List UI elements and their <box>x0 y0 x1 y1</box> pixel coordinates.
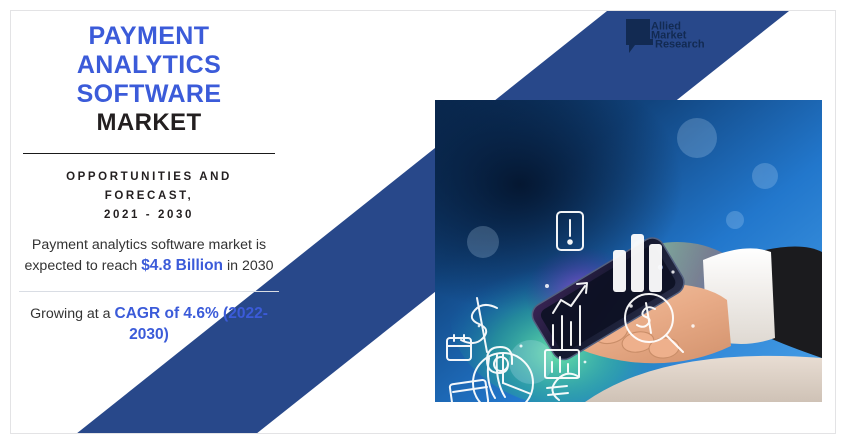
subhead-line-2: FORECAST, <box>18 187 280 206</box>
allied-market-research-logo[interactable]: Allied Market Research <box>624 17 706 59</box>
cagr-highlight: CAGR of 4.6% (2022-2030) <box>115 305 268 343</box>
hero-photo <box>435 100 822 402</box>
subhead: OPPORTUNITIES AND FORECAST, 2021 - 2030 <box>18 168 280 225</box>
logo-text-line-3: Research <box>655 39 705 51</box>
subhead-line-1: OPPORTUNITIES AND <box>18 168 280 187</box>
title-line-2: ANALYTICS <box>18 51 280 80</box>
subhead-line-3: 2021 - 2030 <box>18 206 280 225</box>
title-line-3: SOFTWARE <box>18 80 280 109</box>
logo-icon: Allied Market Research <box>624 17 706 59</box>
cagr-statement: Growing at a CAGR of 4.6% (2022-2030) <box>18 304 280 346</box>
market-value-statement: Payment analytics software market is exp… <box>18 236 280 277</box>
divider-primary <box>23 153 275 154</box>
page-title: PAYMENT ANALYTICS SOFTWARE MARKET <box>18 22 280 137</box>
text-column: PAYMENT ANALYTICS SOFTWARE MARKET OPPORT… <box>18 14 280 346</box>
infographic-root: PAYMENT ANALYTICS SOFTWARE MARKET OPPORT… <box>0 0 847 445</box>
market-value-suffix: in 2030 <box>223 258 274 274</box>
title-line-4: MARKET <box>18 109 280 137</box>
divider-secondary <box>19 291 279 292</box>
cagr-prefix: Growing at a <box>30 306 114 322</box>
market-value-highlight: $4.8 Billion <box>141 257 223 274</box>
hero-photo-illustration <box>435 100 822 402</box>
title-line-1: PAYMENT <box>18 22 280 51</box>
